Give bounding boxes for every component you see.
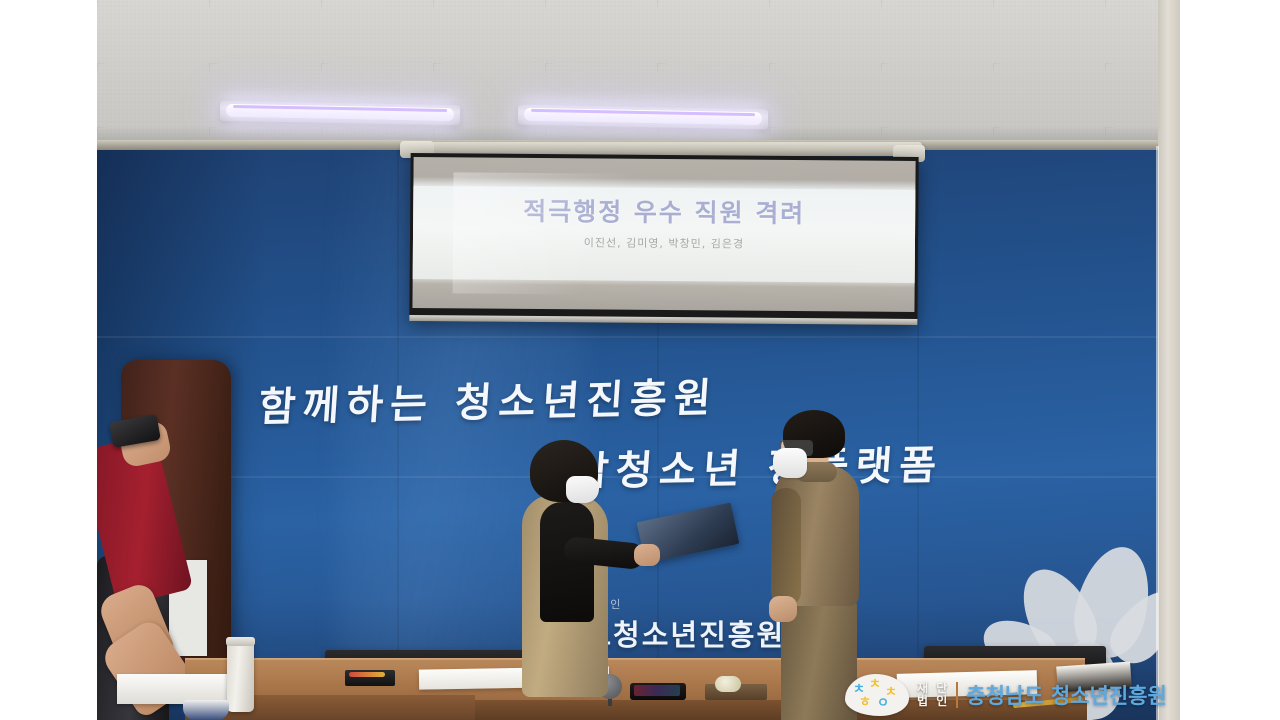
- watermark-mascot-icon: ㅊ ㅊ ㅊ ㅎ ㅇ: [845, 674, 909, 716]
- mascot-figure: ㅎ: [859, 696, 871, 709]
- watermark-logo: ㅊ ㅊ ㅊ ㅎ ㅇ 재 단 법 인 충청남도 청소년진흥원: [845, 672, 1167, 718]
- projector-screen: 적극행정 우수 직원 격려 이진선, 김미영, 박창민, 김은경: [409, 153, 918, 325]
- light-tube-icon: [524, 108, 762, 126]
- wall-corner-edge: [1156, 146, 1159, 720]
- face-mask-icon: [566, 476, 599, 503]
- watermark-org-name: 충청남도 청소년진흥원: [966, 680, 1167, 710]
- screenshot-root: 함께하는 청소년진흥원 남청소년 장플랫폼 단 법 인 청남도청소년진흥원 적극…: [0, 0, 1280, 720]
- face-mask-icon: [773, 448, 807, 478]
- banner-headline-line2: 남청소년 장플랫폼: [570, 433, 945, 498]
- presenter-woman: [512, 440, 622, 720]
- tray-item: [715, 676, 741, 692]
- side-wall: [1158, 0, 1180, 720]
- banner-headline-line1: 함께하는 청소년진흥원: [257, 365, 720, 433]
- recipient-arm: [771, 488, 801, 606]
- light-tube-icon: [226, 104, 454, 121]
- banner-seam: [97, 336, 1180, 338]
- cup: [183, 700, 229, 720]
- watermark-corp-block: 재 단 법 인: [917, 682, 958, 707]
- pen: [349, 672, 385, 677]
- tumbler: [227, 640, 254, 712]
- presenter-hand: [634, 544, 660, 566]
- photograph: 함께하는 청소년진흥원 남청소년 장플랫폼 단 법 인 청남도청소년진흥원 적극…: [97, 0, 1180, 720]
- recipient-hand: [769, 596, 797, 622]
- letterbox-band-right: [1180, 0, 1280, 720]
- watermark-corp-line2: 법 인: [917, 695, 949, 708]
- mascot-figure: ㅊ: [869, 678, 881, 691]
- slide-title: 적극행정 우수 직원 격려: [413, 191, 915, 231]
- phone-screen: [634, 685, 680, 696]
- ceiling: [97, 0, 1180, 152]
- projector-screen-surface: 적극행정 우수 직원 격려 이진선, 김미영, 박창민, 김은경: [412, 157, 915, 312]
- mascot-figure: ㅇ: [877, 697, 889, 710]
- tumbler-lid: [226, 637, 255, 646]
- letterbox-band-left: [0, 0, 97, 720]
